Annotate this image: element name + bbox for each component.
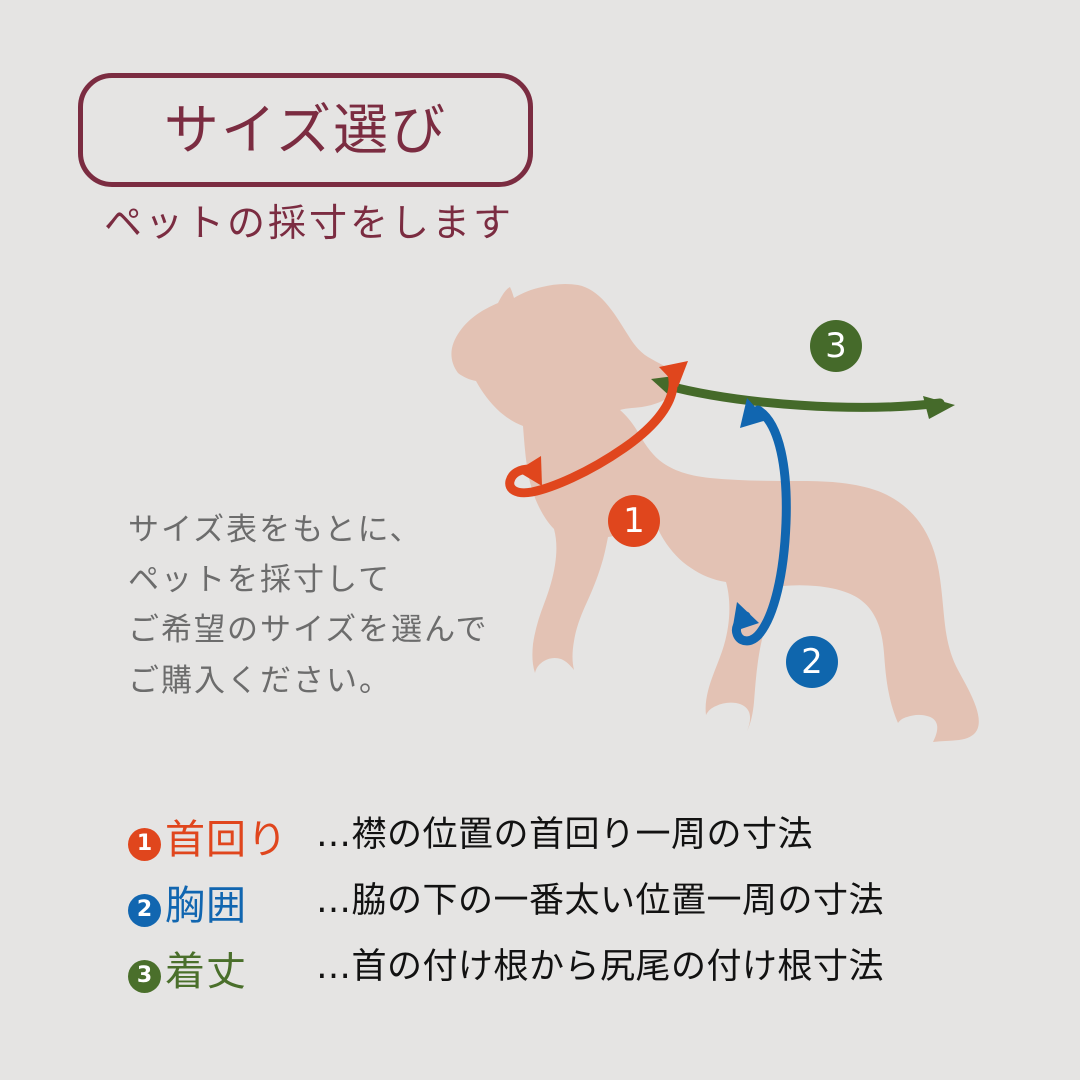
dog-silhouette-icon (451, 284, 978, 742)
legend-row-neck: 1 首回り …襟の位置の首回り一周の寸法 (128, 818, 1008, 884)
legend-badge-2: 2 (128, 894, 161, 927)
page-subtitle: ペットの採寸をします (104, 201, 514, 247)
legend-label-length: 着丈 (165, 952, 247, 992)
legend-row-chest: 2 胸囲 …脇の下の一番太い位置一周の寸法 (128, 884, 1008, 950)
dog-measurement-illustration (420, 255, 1040, 795)
legend-label-neck: 首回り (165, 820, 288, 860)
legend-key-length: 3 着丈 (128, 952, 316, 992)
legend-desc-neck: …襟の位置の首回り一周の寸法 (316, 818, 813, 853)
legend-desc-chest: …脇の下の一番太い位置一周の寸法 (316, 884, 884, 919)
legend-key-neck: 1 首回り (128, 820, 316, 860)
figure-badge-2: 2 (786, 636, 838, 688)
legend-badge-1: 1 (128, 828, 161, 861)
figure-badge-1: 1 (608, 495, 660, 547)
legend-desc-length: …首の付け根から尻尾の付け根寸法 (316, 950, 884, 985)
measurement-legend: 1 首回り …襟の位置の首回り一周の寸法 2 胸囲 …脇の下の一番太い位置一周の… (128, 818, 1008, 1016)
body-length-arrow (651, 375, 955, 419)
legend-badge-3: 3 (128, 960, 161, 993)
legend-key-chest: 2 胸囲 (128, 886, 316, 926)
legend-label-chest: 胸囲 (165, 886, 247, 926)
legend-row-length: 3 着丈 …首の付け根から尻尾の付け根寸法 (128, 950, 1008, 1016)
size-guide-page: サイズ選び ペットの採寸をします サイズ表をもとに、 ペットを採寸して ご希望の… (0, 0, 1080, 1080)
figure-badge-3: 3 (810, 320, 862, 372)
page-title-box: サイズ選び (78, 73, 533, 187)
page-title: サイズ選び (164, 103, 447, 158)
